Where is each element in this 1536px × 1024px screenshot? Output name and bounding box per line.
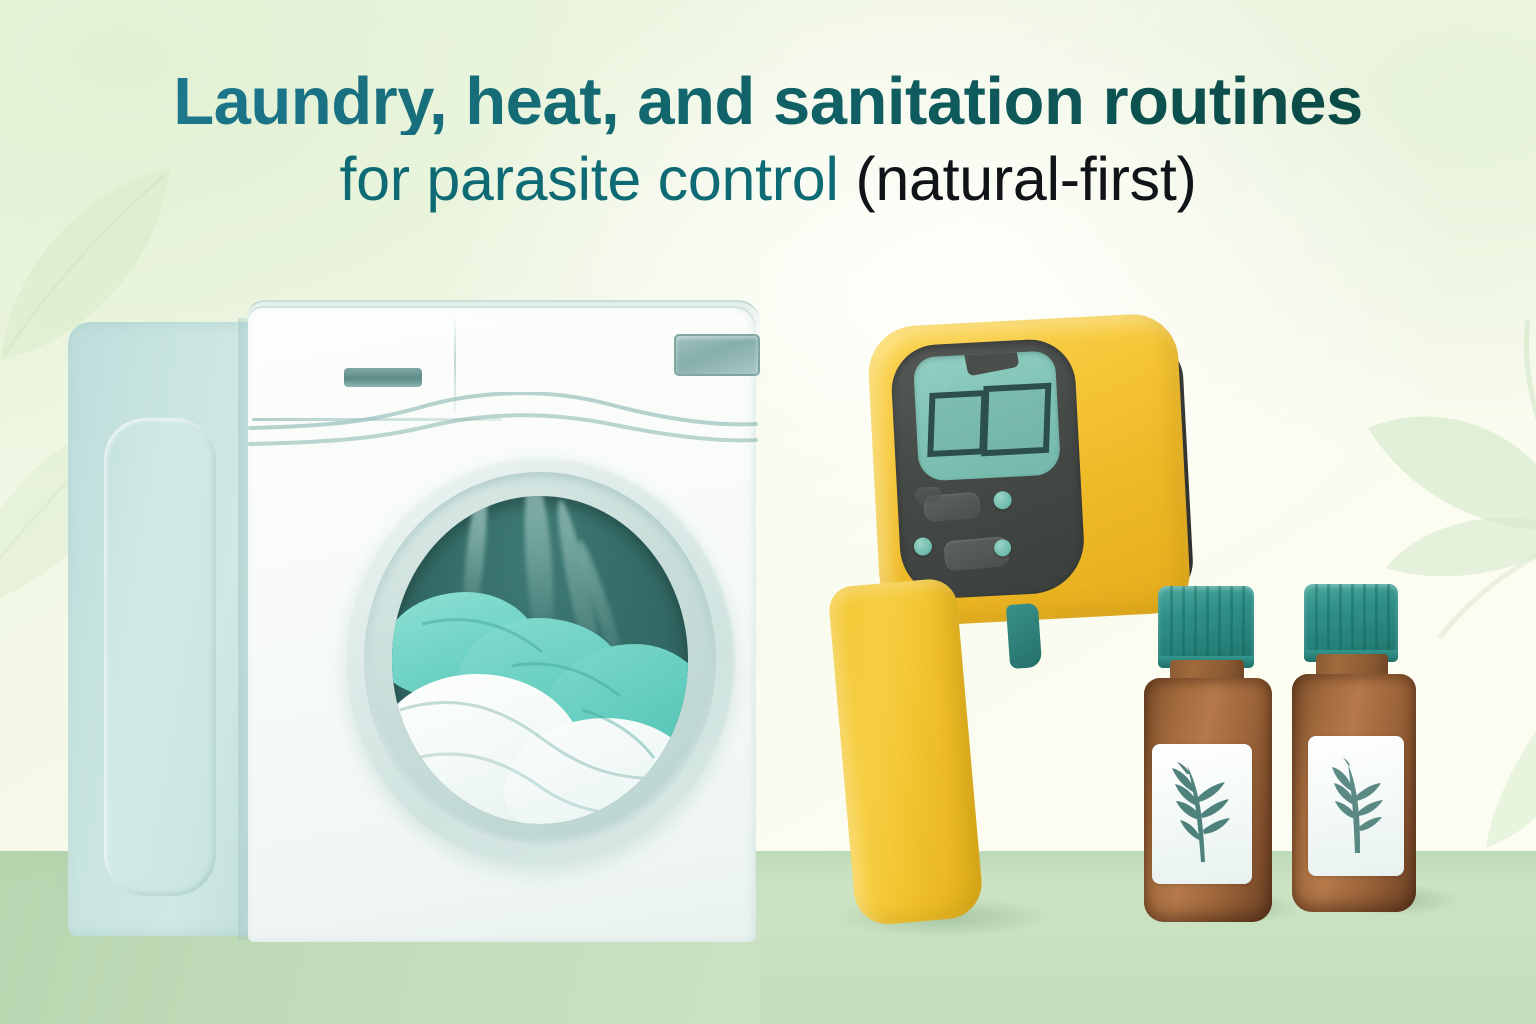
bottle-label-right [1308,736,1404,876]
washer-side-inset [104,418,216,896]
illustration-canvas: Laundry, heat, and sanitation routines f… [0,0,1536,1024]
laundry-fold-lines [392,496,688,824]
herb-leaf-icon [1324,757,1388,855]
herb-sprig-icon [1167,762,1237,866]
bottle-cap-right [1304,584,1398,662]
washer-door-glass [392,496,688,824]
washer-display-panel [674,334,760,376]
thermometer-trigger[interactable] [1006,603,1042,669]
washing-machine [62,296,762,946]
thermometer-button-pad[interactable] [915,486,942,503]
thermometer-button-round[interactable] [993,491,1012,510]
lcd-notch [962,350,1020,376]
thermometer-grip-handle [827,577,984,927]
bottle-label-left [1152,744,1252,884]
washer-side-panel [68,322,260,936]
essential-oil-bottle-left [1140,586,1280,926]
thermometer-button-round[interactable] [914,537,933,556]
thermometer-button-round[interactable] [994,539,1012,557]
detergent-drawer-handle [344,368,422,387]
essential-oil-bottle-right [1292,584,1426,910]
lcd-digit [981,383,1051,457]
washer-front-contour [248,392,758,448]
lcd-digit [927,390,987,457]
thermometer-lcd-screen [913,350,1061,481]
bottle-cap-left [1158,586,1254,668]
